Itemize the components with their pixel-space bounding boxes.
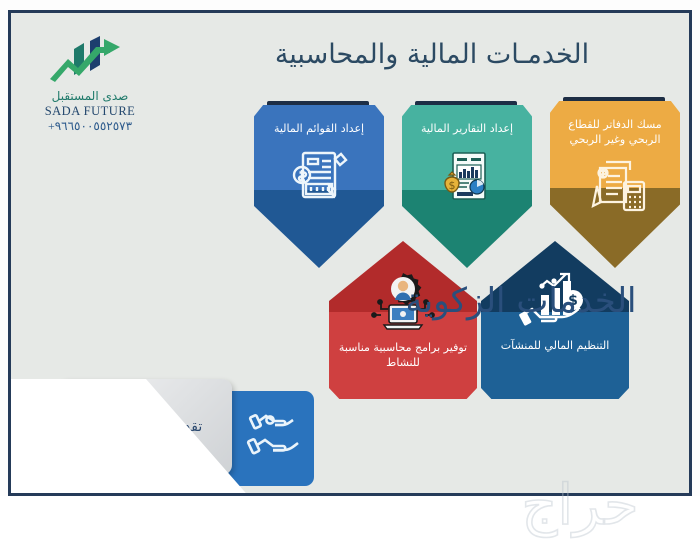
poster-canvas: صدى المستقبل SADA FUTURE +٩٦٦٥٠٠٥٥٢٥٧٣ ا… <box>8 10 692 496</box>
zakat-heading: الخدمات الزكوية <box>371 281 671 321</box>
service-card-label: التنظيم المالي للمنشآت <box>493 339 618 354</box>
page-title: الخدمـات المالية والمحاسبية <box>197 37 667 73</box>
hands-giving-coin-icon <box>243 401 307 465</box>
service-card-bookkeeping[interactable]: مسك الدفاتر للقطاع الربحي وغير الربحي <box>550 101 680 268</box>
brand-phone: +٩٦٦٥٠٠٥٥٢٥٧٣ <box>25 119 155 134</box>
brand-logo: صدى المستقبل SADA FUTURE +٩٦٦٥٠٠٥٥٢٥٧٣ <box>25 35 155 134</box>
svg-text:$: $ <box>449 179 456 192</box>
infographic-stage: صدى المستقبل SADA FUTURE +٩٦٦٥٠٠٥٥٢٥٧٣ ا… <box>0 0 700 541</box>
service-card-label: إعداد القوائم المالية <box>266 122 372 137</box>
brand-name-en: SADA FUTURE <box>25 104 155 119</box>
bottom-white-strip <box>0 496 700 541</box>
service-card-label: مسك الدفاتر للقطاع الربحي وغير الربحي <box>550 118 680 148</box>
financial-report-chart-icon: $ <box>431 141 503 213</box>
service-card-financial-reports[interactable]: إعداد التقارير المالية <box>402 105 532 268</box>
brand-name-ar: صدى المستقبل <box>25 89 155 103</box>
growth-arrow-icon <box>44 35 136 87</box>
bookkeeping-calculator-icon <box>578 152 652 222</box>
financial-statement-document-icon <box>283 141 355 213</box>
service-card-label: إعداد التقارير المالية <box>413 122 521 137</box>
service-card-label: توفير برامج محاسبية مناسبة للنشاط <box>329 341 477 371</box>
service-card-financial-statements[interactable]: إعداد القوائم المالية <box>254 105 384 268</box>
